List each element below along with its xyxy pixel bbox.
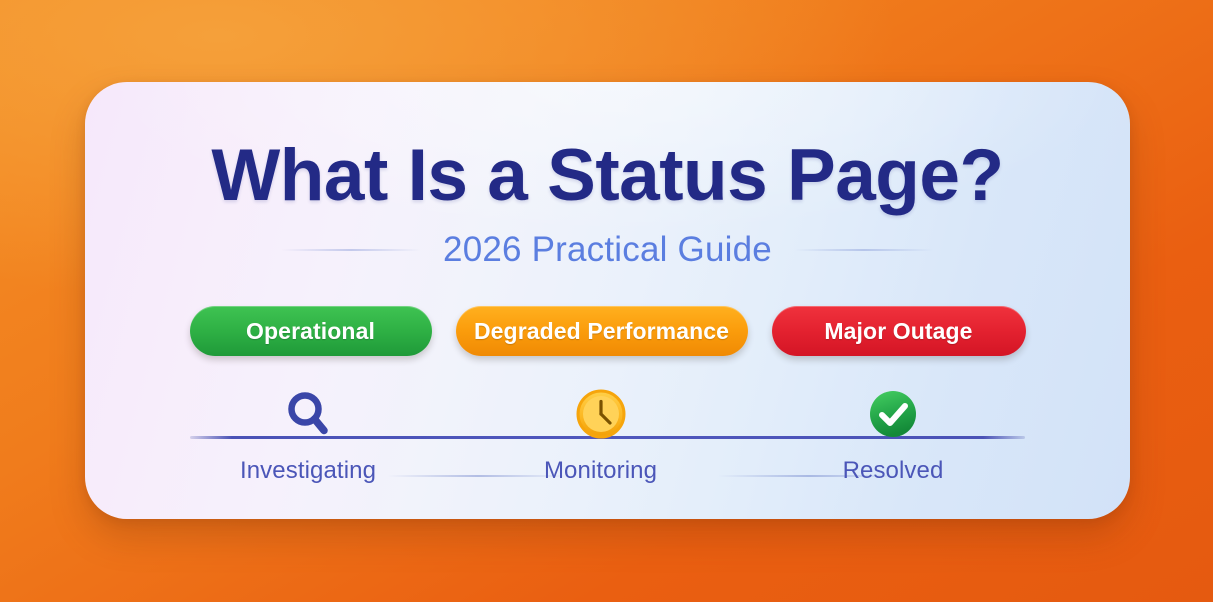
status-pill-group: Operational Degraded Performance Major O… [85,306,1130,356]
status-pill-operational[interactable]: Operational [190,306,432,356]
status-pill-major-outage[interactable]: Major Outage [772,306,1026,356]
timeline-step-resolved[interactable]: Resolved [793,387,993,485]
timeline-label-investigating: Investigating [240,457,376,485]
timeline-label-monitoring: Monitoring [544,457,657,485]
page-title: What Is a Status Page? [85,134,1130,217]
clock-icon [574,387,628,441]
subtitle-row: 2026 Practical Guide [85,230,1130,270]
check-circle-icon [866,387,920,441]
incident-timeline: Investigating [190,387,1025,492]
infographic-canvas: What Is a Status Page? 2026 Practical Gu… [0,0,1213,602]
timeline-step-investigating[interactable]: Investigating [208,387,408,485]
timeline-label-resolved: Resolved [843,457,944,485]
status-pill-degraded-performance[interactable]: Degraded Performance [456,306,748,356]
page-subtitle: 2026 Practical Guide [443,230,772,270]
subtitle-rule-right [794,249,934,251]
timeline-step-monitoring[interactable]: Monitoring [501,387,701,485]
status-page-card: What Is a Status Page? 2026 Practical Gu… [85,82,1130,519]
subtitle-rule-left [281,249,421,251]
magnifying-glass-icon [281,387,335,441]
